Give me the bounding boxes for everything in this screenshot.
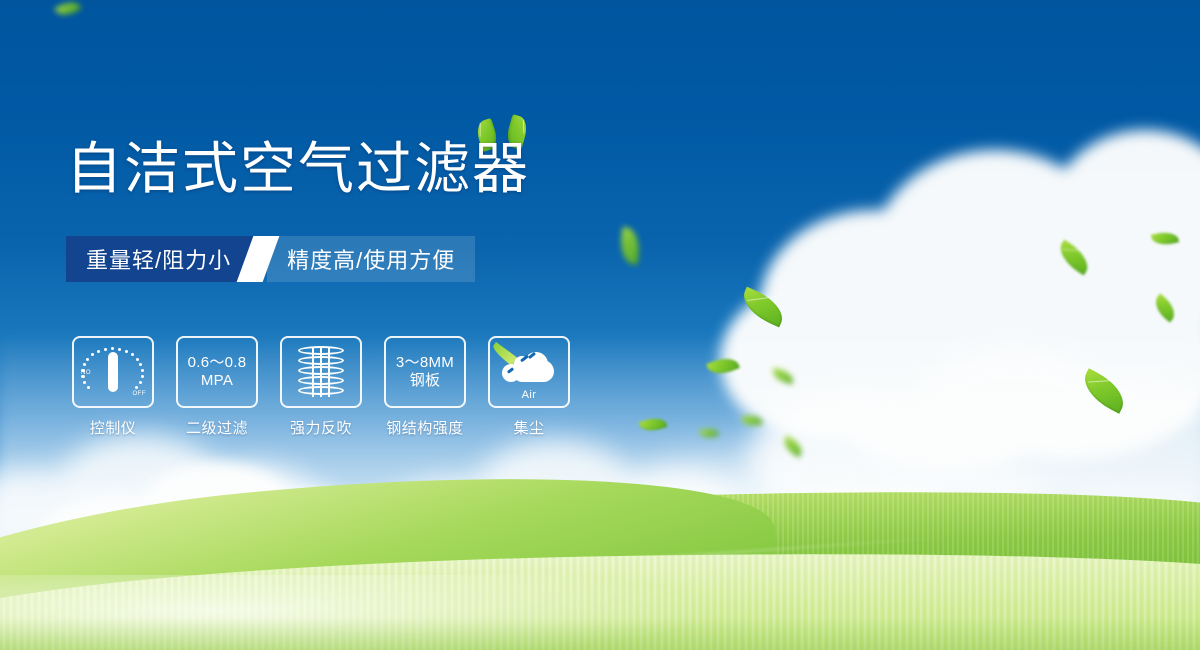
feature-icon-box: Air	[488, 336, 570, 408]
feature-item-steel[interactable]: 3～8MM 钢板 钢结构强度	[384, 336, 466, 438]
gauge-off-label: OFF	[133, 391, 147, 397]
field-shadow	[0, 618, 1200, 650]
subtitle-right: 精度高/使用方便	[267, 236, 475, 282]
feature-item-blowback[interactable]: 强力反吹	[280, 336, 362, 438]
feature-icon-box	[280, 336, 362, 408]
feature-icon-box: 3～8MM 钢板	[384, 336, 466, 408]
subtitle-bar: 重量轻/阻力小 精度高/使用方便	[66, 236, 475, 282]
steel-text-icon: 3～8MM 钢板	[396, 354, 454, 389]
pressure-value: 0.6～0.8	[188, 354, 247, 371]
feature-list: NO OFF 控制仪 0.6～0.8 MPA 二级过滤	[72, 336, 570, 438]
gauge-icon: NO OFF	[82, 344, 144, 400]
steel-thickness: 3～8MM	[396, 354, 454, 371]
feature-label: 控制仪	[90, 417, 137, 438]
subtitle-left: 重量轻/阻力小	[66, 236, 257, 282]
pressure-text-icon: 0.6～0.8 MPA	[188, 354, 247, 389]
air-label: Air	[498, 389, 560, 401]
feature-item-control[interactable]: NO OFF 控制仪	[72, 336, 154, 438]
steel-material: 钢板	[396, 372, 454, 390]
pressure-unit: MPA	[188, 372, 247, 390]
coil-filter-icon	[298, 344, 344, 400]
air-cloud-icon: Air	[498, 344, 560, 400]
gauge-on-label: NO	[81, 370, 91, 376]
feature-label: 集尘	[513, 417, 544, 438]
feature-item-filter[interactable]: 0.6～0.8 MPA 二级过滤	[176, 336, 258, 438]
gauge-needle	[108, 352, 118, 392]
page-title: 自洁式空气过滤器	[66, 140, 530, 199]
feature-item-dust[interactable]: Air 集尘	[488, 336, 570, 438]
feature-label: 强力反吹	[290, 417, 352, 438]
feature-label: 二级过滤	[186, 417, 248, 438]
feature-icon-box: NO OFF	[72, 336, 154, 408]
feature-icon-box: 0.6～0.8 MPA	[176, 336, 258, 408]
feature-label: 钢结构强度	[386, 417, 464, 438]
hero-banner: 自洁式空气过滤器 重量轻/阻力小 精度高/使用方便	[0, 0, 1200, 650]
